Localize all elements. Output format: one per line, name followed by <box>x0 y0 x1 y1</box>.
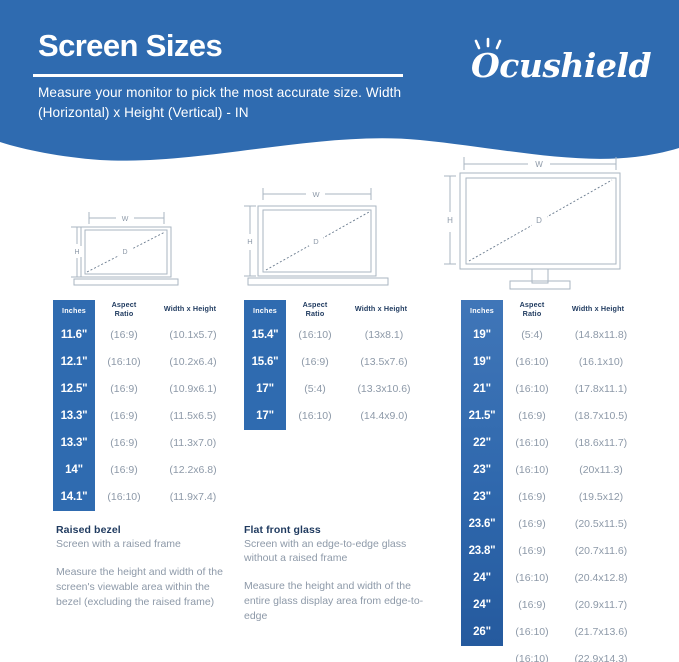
cell-inches: 15.4" <box>244 322 286 349</box>
cell-aspect-ratio: (5:4) <box>292 376 338 403</box>
cell-aspect-ratio: (16:10) <box>292 403 338 430</box>
cell-aspect-ratio: (16:10) <box>509 646 555 662</box>
cell-inches: 17" <box>244 403 286 430</box>
table-row: 12.1" (16:10) (10.2x6.4) <box>53 349 238 376</box>
cell-aspect-ratio: (16:9) <box>509 511 555 538</box>
note-subtitle: Screen with an edge-to-edge glass withou… <box>244 538 424 566</box>
table-header-row: Inches Aspect Ratio Width x Height <box>461 300 661 322</box>
table-small-sizes: Inches Aspect Ratio Width x Height 11.6"… <box>53 300 238 511</box>
header-content: Screen Sizes Measure your monitor to pic… <box>0 0 679 160</box>
cell-width-height: (16.1x10) <box>553 349 649 376</box>
cell-inches: 12.5" <box>53 376 95 403</box>
table-row: 21" (16:10) (17.8x11.1) <box>461 376 661 403</box>
cell-inches: 15.6" <box>244 349 286 376</box>
diagonal-label: D <box>122 249 127 256</box>
height-label: H <box>247 237 252 246</box>
cell-aspect-ratio: (16:10) <box>509 376 555 403</box>
column-header-inches: Inches <box>244 300 286 322</box>
cell-aspect-ratio: (16:9) <box>292 349 338 376</box>
table-header-row: Inches Aspect Ratio Width x Height <box>244 300 439 322</box>
cell-inches: 14.1" <box>53 484 95 511</box>
cell-width-height: (20.5x11.5) <box>553 511 649 538</box>
table-row: 15.6" (16:9) (13.5x7.6) <box>244 349 439 376</box>
brand-wordmark: Ocushield <box>471 46 651 85</box>
cell-width-height: (13.5x7.6) <box>336 349 432 376</box>
table-header-row: Inches Aspect Ratio Width x Height <box>53 300 238 322</box>
cell-width-height: (14.8x11.8) <box>553 322 649 349</box>
cell-aspect-ratio: (16:10) <box>509 565 555 592</box>
cell-inches: 23.8" <box>461 538 503 565</box>
cell-width-height: (17.8x11.1) <box>553 376 649 403</box>
table-row: 17" (5:4) (13.3x10.6) <box>244 376 439 403</box>
width-label: W <box>535 160 543 169</box>
cell-inches: 13.3" <box>53 403 95 430</box>
cell-width-height: (19.5x12) <box>553 484 649 511</box>
table-row: 24" (16:10) (20.4x12.8) <box>461 565 661 592</box>
cell-width-height: (12.2x6.8) <box>145 457 241 484</box>
cell-width-height: (11.9x7.4) <box>145 484 241 511</box>
cell-aspect-ratio: (5:4) <box>509 322 555 349</box>
cell-width-height: (18.6x11.7) <box>553 430 649 457</box>
note-body: Measure the height and width of the enti… <box>244 579 424 624</box>
table-row: 17" (16:10) (14.4x9.0) <box>244 403 439 430</box>
cell-inches: 23" <box>461 457 503 484</box>
cell-aspect-ratio: (16:9) <box>509 403 555 430</box>
width-label: W <box>122 216 129 223</box>
page-title: Screen Sizes <box>38 30 222 61</box>
table-row: 14.1" (16:10) (11.9x7.4) <box>53 484 238 511</box>
diagonal-label: D <box>313 237 319 246</box>
table-row: 13.3" (16:9) (11.3x7.0) <box>53 430 238 457</box>
cell-inches: 19" <box>461 349 503 376</box>
cell-width-height: (13.3x10.6) <box>336 376 432 403</box>
cell-inches: 14" <box>53 457 95 484</box>
cell-width-height: (22.9x14.3) <box>553 646 649 662</box>
infographic-page: Screen Sizes Measure your monitor to pic… <box>0 0 679 662</box>
cell-aspect-ratio: (16:10) <box>509 430 555 457</box>
cell-aspect-ratio: (16:10) <box>292 322 338 349</box>
cell-aspect-ratio: (16:9) <box>509 538 555 565</box>
table-row: 19" (16:10) (16.1x10) <box>461 349 661 376</box>
table-row: 19" (5:4) (14.8x11.8) <box>461 322 661 349</box>
cell-aspect-ratio: (16:9) <box>101 430 147 457</box>
large-monitor-diagram: D W H <box>428 148 654 290</box>
cell-width-height: (11.3x7.0) <box>145 430 241 457</box>
table-row: 24" (16:9) (20.9x11.7) <box>461 592 661 619</box>
table-row: 22" (16:10) (18.6x11.7) <box>461 430 661 457</box>
page-subtitle: Measure your monitor to pick the most ac… <box>38 83 418 122</box>
cell-width-height: (11.5x6.5) <box>145 403 241 430</box>
cell-inches: 17" <box>244 376 286 403</box>
cell-aspect-ratio: (16:9) <box>509 484 555 511</box>
cell-aspect-ratio: (16:10) <box>101 349 147 376</box>
table-row: 15.4" (16:10) (13x8.1) <box>244 322 439 349</box>
diagonal-label: D <box>536 216 542 225</box>
cell-width-height: (14.4x9.0) <box>336 403 432 430</box>
table-row: 13.3" (16:9) (11.5x6.5) <box>53 403 238 430</box>
cell-width-height: (18.7x10.5) <box>553 403 649 430</box>
table-body: 11.6" (16:9) (10.1x5.7) 12.1" (16:10) (1… <box>53 322 238 511</box>
height-label: H <box>447 216 453 225</box>
cell-width-height: (20.7x11.6) <box>553 538 649 565</box>
cell-width-height: (10.2x6.4) <box>145 349 241 376</box>
table-row: 11.6" (16:9) (10.1x5.7) <box>53 322 238 349</box>
cell-inches: 23.6" <box>461 511 503 538</box>
width-label: W <box>312 190 320 199</box>
cell-aspect-ratio: (16:10) <box>509 457 555 484</box>
column-header-aspect-ratio: Aspect Ratio <box>101 300 147 318</box>
cell-aspect-ratio: (16:9) <box>509 592 555 619</box>
cell-aspect-ratio: (16:9) <box>101 403 147 430</box>
table-row: 23" (16:10) (20x11.3) <box>461 457 661 484</box>
cell-aspect-ratio: (16:9) <box>101 457 147 484</box>
table-large-sizes: Inches Aspect Ratio Width x Height 19" (… <box>461 300 661 662</box>
note-body: Measure the height and width of the scre… <box>56 565 231 610</box>
cell-inches: 23" <box>461 484 503 511</box>
cell-inches: 11.6" <box>53 322 95 349</box>
cell-width-height: (20.4x12.8) <box>553 565 649 592</box>
column-header-width-height: Width x Height <box>553 304 643 313</box>
column-header-aspect-ratio: Aspect Ratio <box>292 300 338 318</box>
table-row: 21.5" (16:9) (18.7x10.5) <box>461 403 661 430</box>
note-title: Flat front glass <box>244 524 424 536</box>
table-row: 27" (16:10) (22.9x14.3) <box>461 646 661 662</box>
table-row: 23" (16:9) (19.5x12) <box>461 484 661 511</box>
note-title: Raised bezel <box>56 524 231 536</box>
table-row: 23.8" (16:9) (20.7x11.6) <box>461 538 661 565</box>
column-header-width-height: Width x Height <box>336 304 426 313</box>
title-divider <box>33 74 403 77</box>
cell-inches: 21.5" <box>461 403 503 430</box>
cell-aspect-ratio: (16:9) <box>101 376 147 403</box>
cell-inches: 27" <box>461 646 503 662</box>
cell-aspect-ratio: (16:9) <box>101 322 147 349</box>
note-flat-front-glass: Flat front glass Screen with an edge-to-… <box>244 524 424 623</box>
table-row: 26" (16:10) (21.7x13.6) <box>461 619 661 646</box>
cell-width-height: (20x11.3) <box>553 457 649 484</box>
note-raised-bezel: Raised bezel Screen with a raised frame … <box>56 524 231 610</box>
height-label: H <box>74 249 79 256</box>
cell-inches: 22" <box>461 430 503 457</box>
column-header-inches: Inches <box>461 300 503 322</box>
cell-inches: 13.3" <box>53 430 95 457</box>
table-row: 23.6" (16:9) (20.5x11.5) <box>461 511 661 538</box>
cell-width-height: (10.1x5.7) <box>145 322 241 349</box>
cell-inches: 21" <box>461 376 503 403</box>
cell-inches: 12.1" <box>53 349 95 376</box>
table-medium-sizes: Inches Aspect Ratio Width x Height 15.4"… <box>244 300 439 430</box>
column-header-inches: Inches <box>53 300 95 322</box>
medium-monitor-diagram: D W H <box>238 182 428 290</box>
cell-width-height: (10.9x6.1) <box>145 376 241 403</box>
ocushield-logo: Ocushield <box>471 36 651 98</box>
cell-inches: 24" <box>461 565 503 592</box>
cell-width-height: (20.9x11.7) <box>553 592 649 619</box>
cell-width-height: (21.7x13.6) <box>553 619 649 646</box>
table-body: 19" (5:4) (14.8x11.8) 19" (16:10) (16.1x… <box>461 322 661 662</box>
laptop-diagram: D W H <box>56 196 236 288</box>
table-body: 15.4" (16:10) (13x8.1) 15.6" (16:9) (13.… <box>244 322 439 430</box>
table-row: 14" (16:9) (12.2x6.8) <box>53 457 238 484</box>
cell-inches: 19" <box>461 322 503 349</box>
cell-width-height: (13x8.1) <box>336 322 432 349</box>
column-header-width-height: Width x Height <box>145 304 235 313</box>
cell-aspect-ratio: (16:10) <box>509 349 555 376</box>
table-row: 12.5" (16:9) (10.9x6.1) <box>53 376 238 403</box>
cell-inches: 26" <box>461 619 503 646</box>
cell-aspect-ratio: (16:10) <box>509 619 555 646</box>
note-subtitle: Screen with a raised frame <box>56 538 231 552</box>
column-header-aspect-ratio: Aspect Ratio <box>509 300 555 318</box>
cell-inches: 24" <box>461 592 503 619</box>
cell-aspect-ratio: (16:10) <box>101 484 147 511</box>
